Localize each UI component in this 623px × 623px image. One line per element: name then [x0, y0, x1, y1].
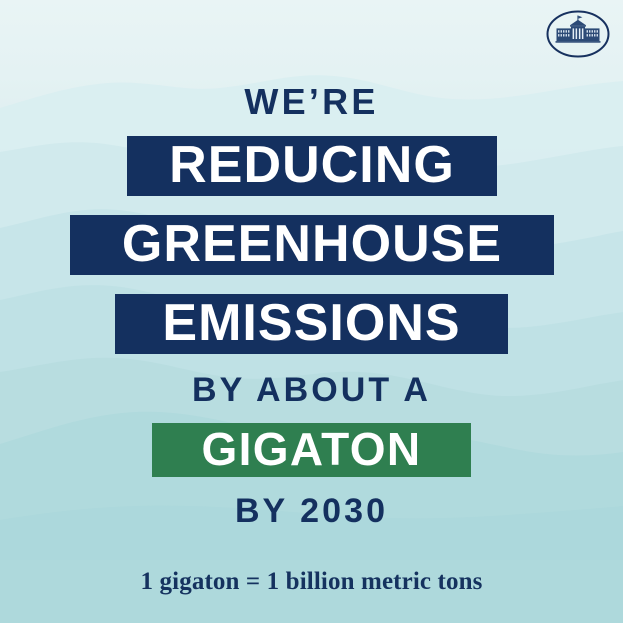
- poster-graphic: WE’RE REDUCING GREENHOUSE EMISSIONS BY A…: [0, 0, 623, 623]
- headline-line-by-2030: BY 2030: [235, 494, 388, 528]
- headline-line-greenhouse: GREENHOUSE: [70, 215, 554, 275]
- headline-line-reducing: REDUCING: [127, 136, 497, 196]
- caption-text: 1 gigaton = 1 billion metric tons: [0, 568, 623, 596]
- headline-line-emissions: EMISSIONS: [115, 294, 508, 354]
- headline-line-gigaton: GIGATON: [152, 423, 471, 477]
- headline-line-by-about-a: BY ABOUT A: [192, 373, 431, 407]
- headline-stack: WE’RE REDUCING GREENHOUSE EMISSIONS BY A…: [0, 0, 623, 623]
- headline-line-were: WE’RE: [244, 84, 378, 120]
